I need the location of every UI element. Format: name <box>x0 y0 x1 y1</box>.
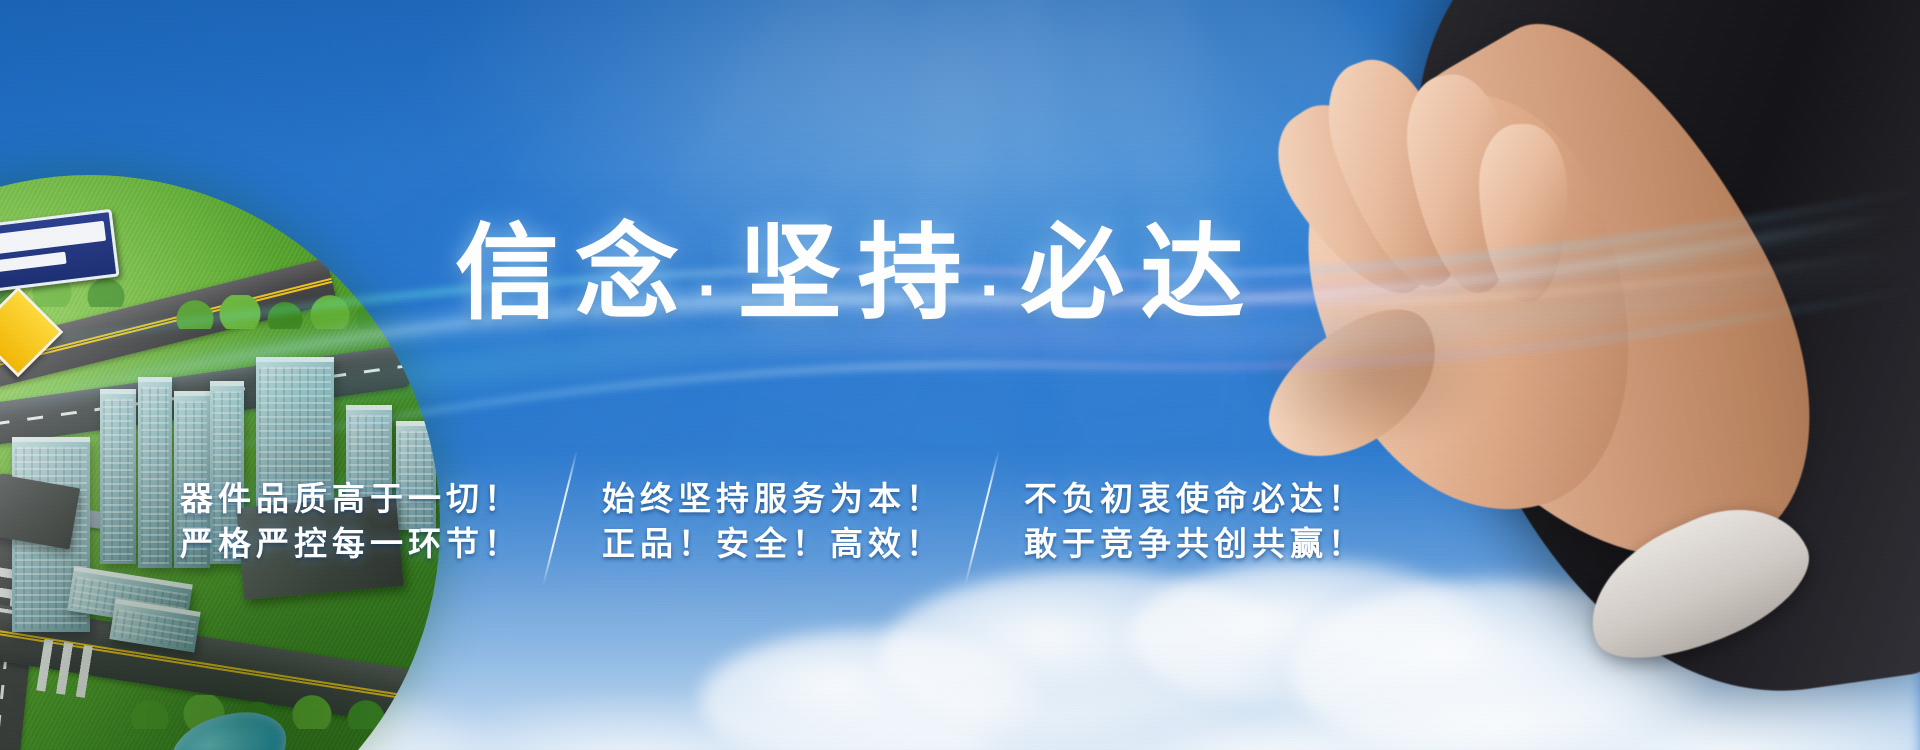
slogan-row: 器件品质高于一切！ 严格严控每一环节！ 始终坚持服务为本！ 正品！安全！高效！ … <box>180 462 1366 582</box>
headline-separator-2: · <box>980 251 1003 329</box>
slogan-3-line-1: 不负初衷使命必达！ <box>1024 480 1366 519</box>
road-sign-bar <box>0 221 106 258</box>
slogan-block-2: 始终坚持服务为本！ 正品！安全！高效！ <box>602 480 944 564</box>
slogan-divider-1 <box>522 462 602 582</box>
slogan-3-line-2: 敢于竞争共创共赢！ <box>1024 525 1366 564</box>
slogan-2-line-2: 正品！安全！高效！ <box>602 525 944 564</box>
headline-word-2: 坚持 <box>738 222 978 326</box>
promo-banner: 梵达电子 Fanda Electronics 信念 · 坚持 · 必达 器件品质… <box>0 0 1920 750</box>
headline: 信念 · 坚持 · 必达 <box>455 222 1260 326</box>
slogan-block-1: 器件品质高于一切！ 严格严控每一环节！ <box>180 480 522 564</box>
slogan-block-3: 不负初衷使命必达！ 敢于竞争共创共赢！ <box>1024 480 1366 564</box>
hand-shadow <box>1250 300 1490 450</box>
slogan-2-line-1: 始终坚持服务为本！ <box>602 480 944 519</box>
headline-separator-1: · <box>697 251 720 329</box>
slogan-1-line-2: 严格严控每一环节！ <box>180 525 522 564</box>
slogan-divider-2 <box>944 462 1024 582</box>
headline-word-1: 信念 <box>455 222 695 326</box>
slogan-1-line-1: 器件品质高于一切！ <box>180 480 522 519</box>
headline-word-3: 必达 <box>1020 222 1260 326</box>
road-sign-bar <box>0 252 67 276</box>
